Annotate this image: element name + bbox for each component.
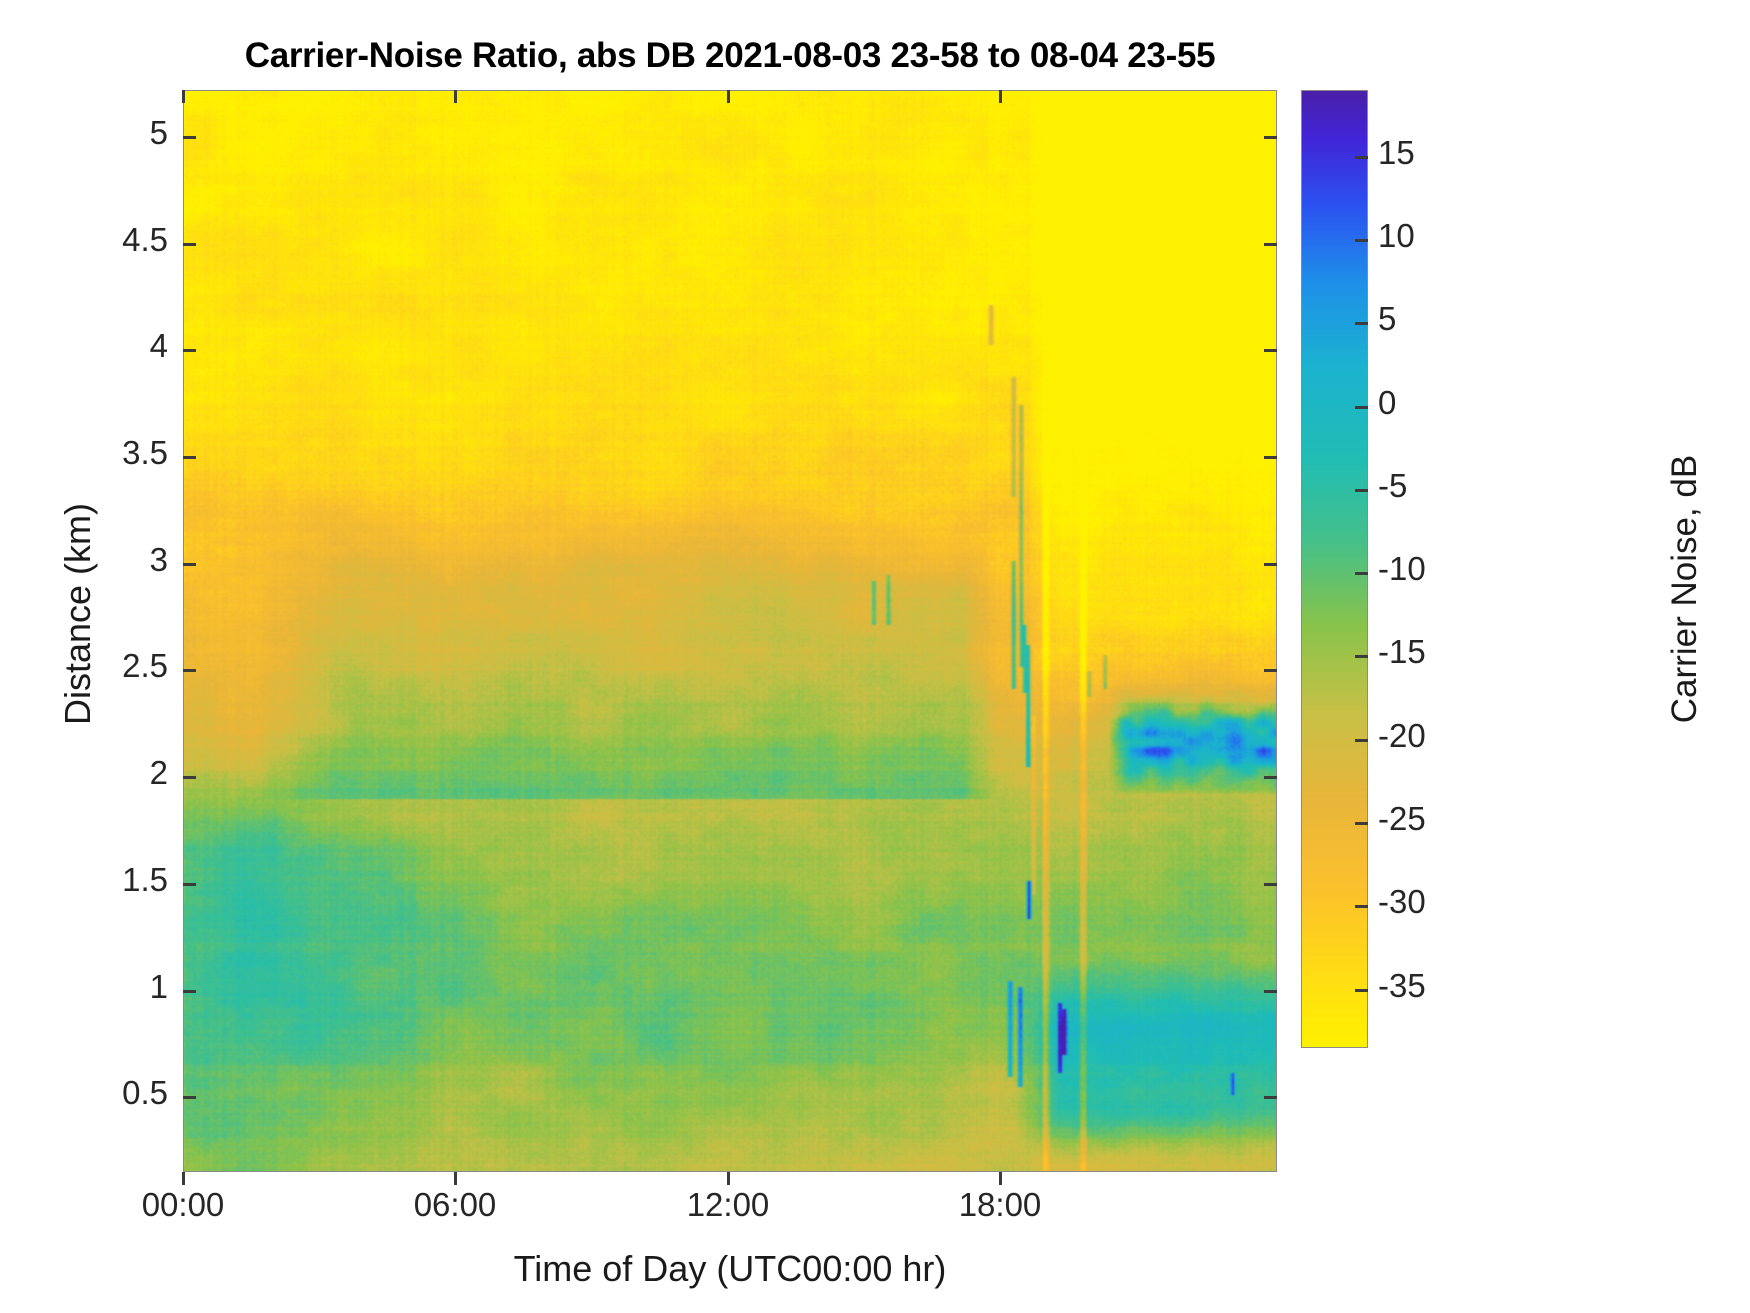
colorbar-tick-label: -30 xyxy=(1378,883,1426,921)
colorbar-tick-label: -5 xyxy=(1378,467,1407,505)
x-tick-mark xyxy=(454,90,457,103)
y-tick-label: 4.5 xyxy=(60,221,168,259)
y-tick-mark xyxy=(183,669,196,672)
y-tick-mark xyxy=(183,883,196,886)
y-tick-mark xyxy=(183,349,196,352)
x-tick-mark xyxy=(999,1172,1002,1185)
colorbar-axis-label: Carrier Noise, dB xyxy=(1665,279,1705,899)
x-tick-mark xyxy=(727,90,730,103)
colorbar-tick-mark xyxy=(1355,489,1368,492)
colorbar-tick-label: -25 xyxy=(1378,800,1426,838)
y-tick-label: 0.5 xyxy=(60,1074,168,1112)
x-tick-mark xyxy=(454,1172,457,1185)
y-tick-mark xyxy=(1264,669,1277,672)
y-tick-mark xyxy=(1264,990,1277,993)
y-tick-mark xyxy=(183,1096,196,1099)
colorbar-tick-mark xyxy=(1355,655,1368,658)
y-tick-mark xyxy=(183,243,196,246)
colorbar-tick-label: -35 xyxy=(1378,967,1426,1005)
colorbar-tick-label: 5 xyxy=(1378,300,1396,338)
y-tick-label: 5 xyxy=(60,114,168,152)
x-tick-label: 18:00 xyxy=(910,1186,1090,1224)
colorbar-tick-mark xyxy=(1355,406,1368,409)
colorbar-tick-mark xyxy=(1355,572,1368,575)
y-axis-label: Distance (km) xyxy=(57,304,99,924)
x-axis-label: Time of Day (UTC00:00 hr) xyxy=(183,1248,1277,1290)
y-tick-mark xyxy=(1264,136,1277,139)
heatmap-image xyxy=(184,91,1277,1172)
colorbar-tick-mark xyxy=(1355,239,1368,242)
x-tick-label: 00:00 xyxy=(93,1186,273,1224)
y-tick-mark xyxy=(1264,243,1277,246)
colorbar-tick-label: 10 xyxy=(1378,217,1415,255)
figure-canvas: Carrier-Noise Ratio, abs DB 2021-08-03 2… xyxy=(0,0,1750,1313)
x-tick-mark xyxy=(182,90,185,103)
x-tick-label: 06:00 xyxy=(365,1186,545,1224)
colorbar-tick-label: -15 xyxy=(1378,633,1426,671)
x-tick-mark xyxy=(999,90,1002,103)
colorbar-tick-label: -10 xyxy=(1378,550,1426,588)
colorbar-tick-label: 0 xyxy=(1378,384,1396,422)
colorbar-tick-mark xyxy=(1355,822,1368,825)
y-tick-mark xyxy=(183,563,196,566)
y-tick-mark xyxy=(1264,349,1277,352)
y-tick-mark xyxy=(1264,776,1277,779)
y-tick-mark xyxy=(1264,456,1277,459)
x-tick-mark xyxy=(727,1172,730,1185)
colorbar-tick-mark xyxy=(1355,905,1368,908)
colorbar-tick-mark xyxy=(1355,322,1368,325)
y-tick-mark xyxy=(1264,1096,1277,1099)
y-tick-mark xyxy=(183,456,196,459)
y-tick-mark xyxy=(183,136,196,139)
y-tick-mark xyxy=(1264,563,1277,566)
y-tick-mark xyxy=(183,990,196,993)
y-tick-label: 1 xyxy=(60,968,168,1006)
y-tick-mark xyxy=(183,776,196,779)
x-tick-label: 12:00 xyxy=(638,1186,818,1224)
heatmap-axes xyxy=(183,90,1277,1172)
colorbar-tick-label: -20 xyxy=(1378,717,1426,755)
x-tick-mark xyxy=(182,1172,185,1185)
colorbar-tick-mark xyxy=(1355,156,1368,159)
colorbar-tick-mark xyxy=(1355,989,1368,992)
colorbar-tick-label: 15 xyxy=(1378,134,1415,172)
page-title: Carrier-Noise Ratio, abs DB 2021-08-03 2… xyxy=(183,36,1277,76)
y-tick-mark xyxy=(1264,883,1277,886)
colorbar-tick-mark xyxy=(1355,739,1368,742)
